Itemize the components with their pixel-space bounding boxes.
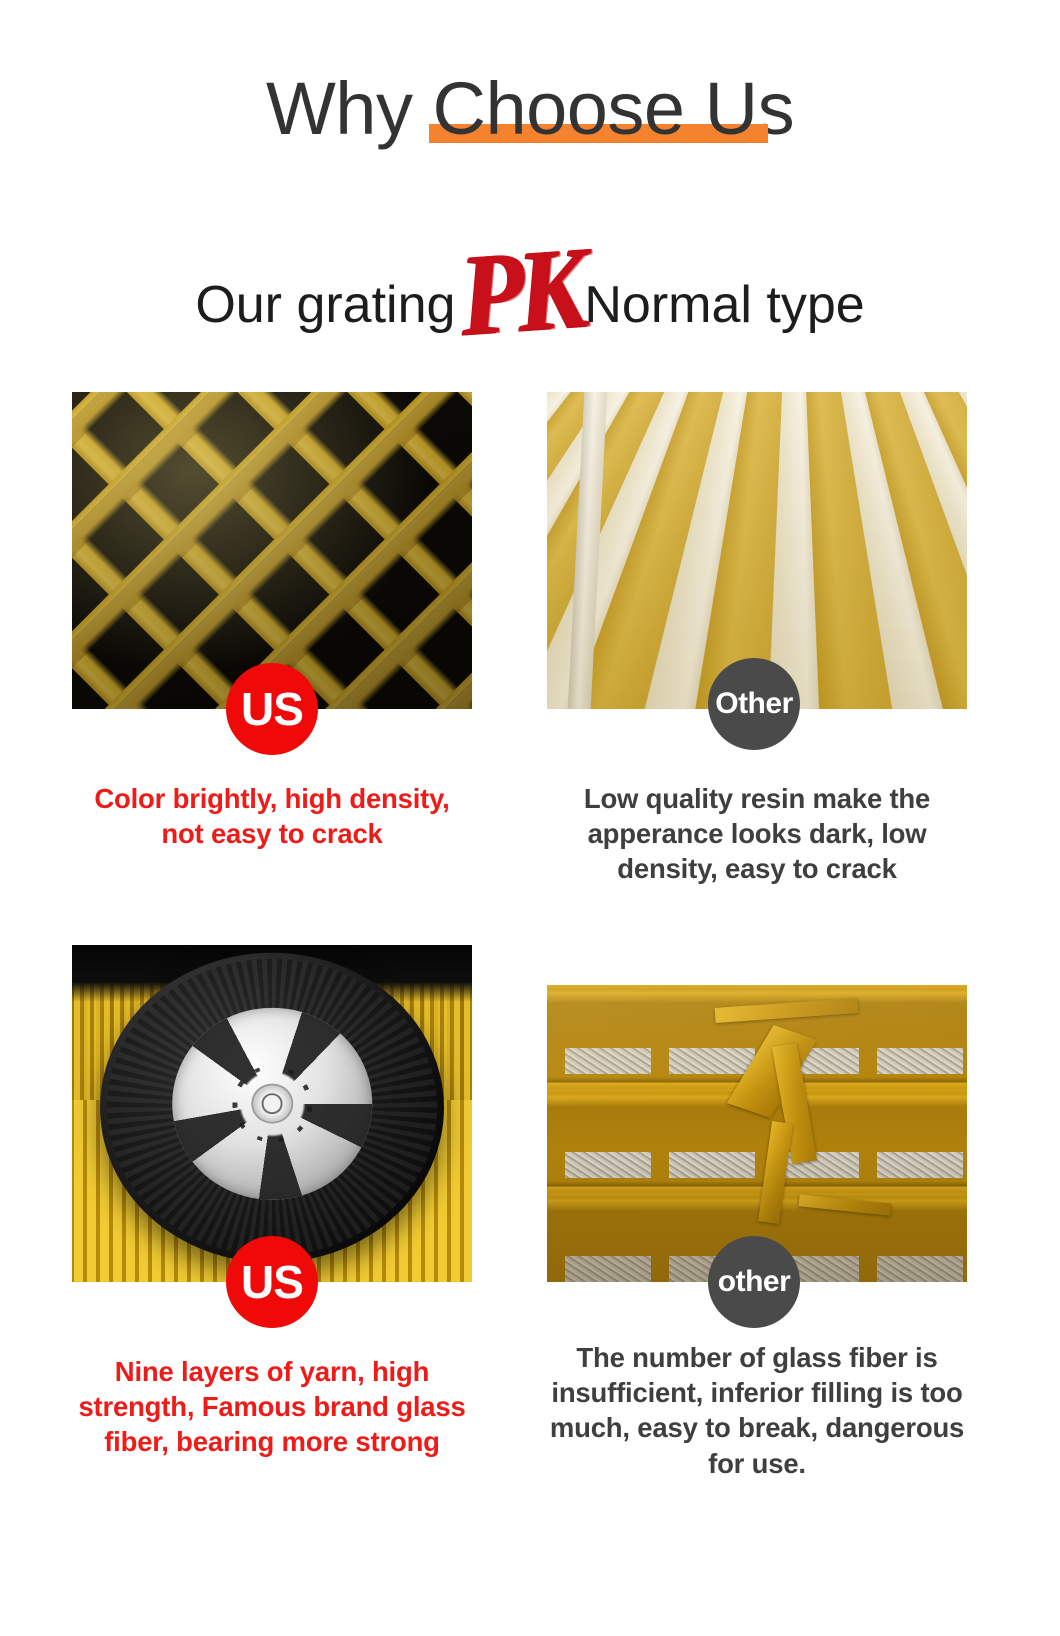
grating-shading-layer [72,392,472,709]
comparison-card-us-quality: US Color brightly, high density, not eas… [72,392,472,851]
comparison-card-other-quality: Other Low quality resin make the apperan… [547,392,967,887]
badge-us: US [226,1236,318,1328]
badge-other: Other [708,658,800,750]
wheel-hub-cap [253,1085,291,1122]
caption-other-quality: Low quality resin make the apperance loo… [547,781,967,887]
bright-yellow-diagonal-grating-photo [72,392,472,709]
subtitle-normal-type: Normal type [584,276,864,334]
pk-brush-mark: PK [458,248,584,338]
page-title-prefix: Why [266,67,433,150]
car-wheel-on-grating-photo [72,945,472,1282]
comparison-subtitle: Our gratingPKNormal type [0,258,1060,331]
badge-us: US [226,663,318,755]
caption-other-strength: The number of glass fiber is insufficien… [547,1340,967,1481]
page-title-highlight: Choose U [433,72,758,146]
comparison-card-us-strength: US Nine layers of yarn, high strength, F… [72,945,472,1460]
caption-us-quality: Color brightly, high density, not easy t… [72,781,472,851]
car-tyre [100,952,444,1262]
badge-other: other [708,1236,800,1328]
alloy-wheel-rim [172,1007,372,1199]
subtitle-our-grating: Our grating [195,276,455,334]
caption-us-strength: Nine layers of yarn, high strength, Famo… [72,1354,472,1460]
comparison-card-other-strength: other The number of glass fiber is insuf… [547,985,967,1481]
page-title: Why Choose Us [0,72,1060,146]
